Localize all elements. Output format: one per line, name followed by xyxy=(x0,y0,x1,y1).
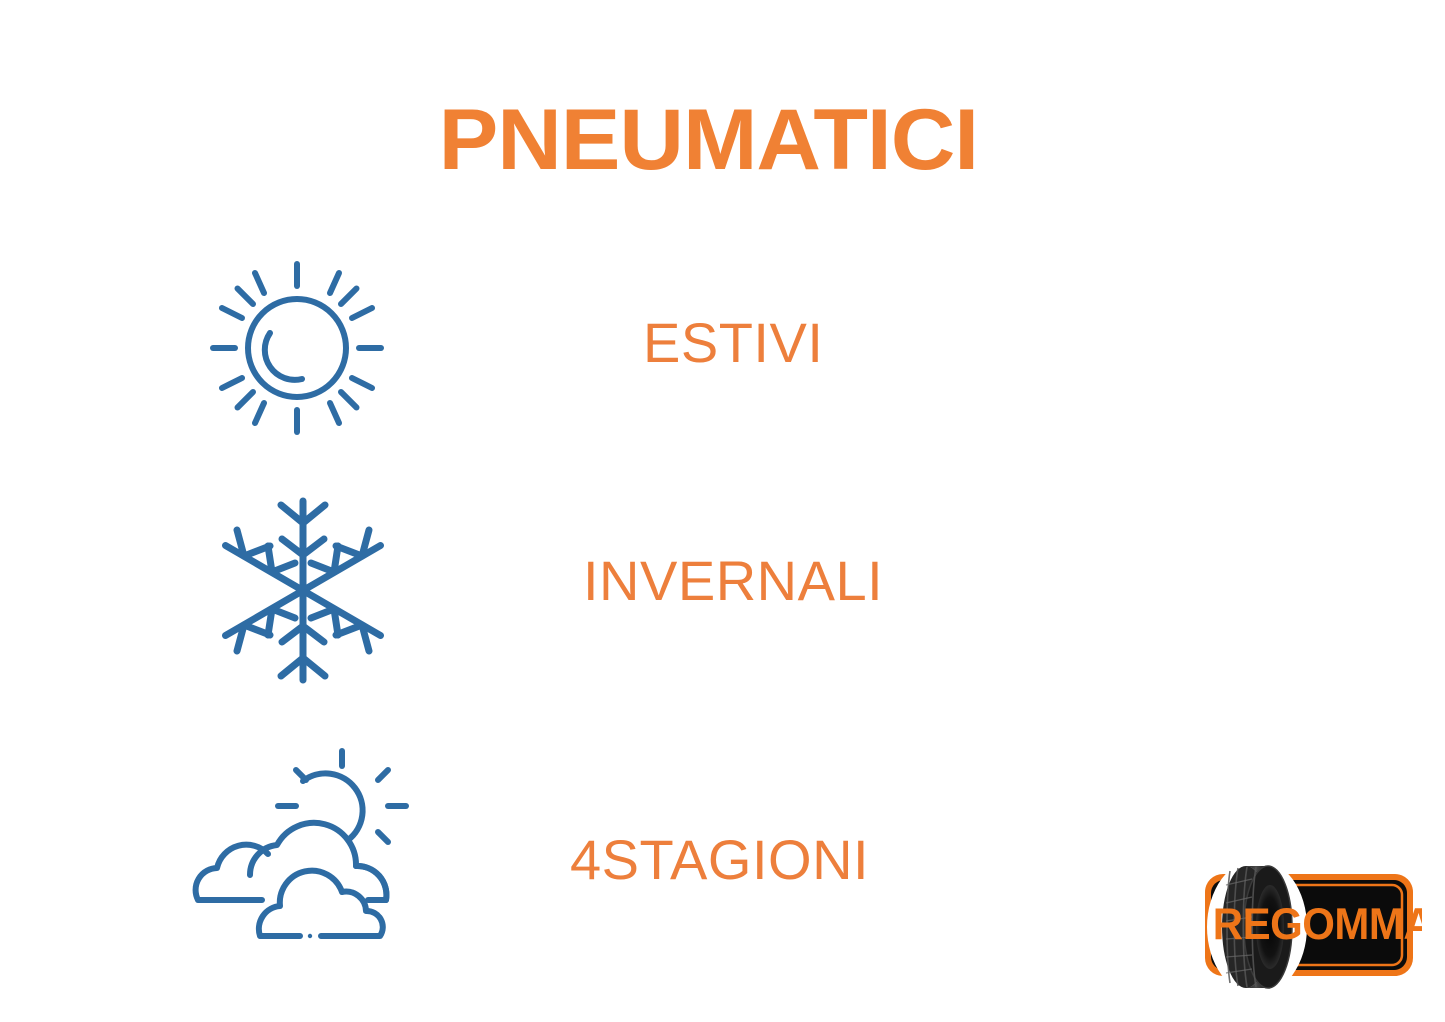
sun-ray xyxy=(352,378,372,388)
sun-ray xyxy=(378,832,388,842)
sun-ray xyxy=(378,770,388,780)
tyre-category-row-invernali: INVERNALI xyxy=(0,493,1445,693)
category-label-estivi: ESTIVI xyxy=(643,313,823,373)
snowflake-icon xyxy=(218,493,388,688)
cloud-main xyxy=(250,823,386,900)
snowflake-barb xyxy=(336,625,369,651)
tyre-category-row-estivi: ESTIVI xyxy=(0,248,1445,448)
sun-ray xyxy=(222,308,242,318)
sun-ray xyxy=(296,770,306,780)
sun-icon xyxy=(210,248,385,438)
category-label-invernali: INVERNALI xyxy=(583,551,883,611)
sun-ray xyxy=(255,403,264,423)
sun-ray xyxy=(238,289,254,305)
regomma-logo[interactable]: REGOMMA xyxy=(1196,857,1422,997)
snowflake-arms xyxy=(226,501,381,680)
sun-ray xyxy=(341,392,357,408)
sun-inner-arc xyxy=(265,333,302,380)
poster-canvas: PNEUMATICI ESTIVI xyxy=(0,0,1445,1022)
sun-ray xyxy=(330,273,339,293)
snowflake-barb xyxy=(336,530,369,556)
logo-brand-text: REGOMMA xyxy=(1213,900,1422,949)
snowflake-barb xyxy=(237,530,270,556)
category-label-4stagioni: 4STAGIONI xyxy=(570,830,869,890)
cloud-front-dot xyxy=(308,934,312,938)
sun-ray xyxy=(330,403,339,423)
cloud-front xyxy=(259,871,383,936)
sun-ray xyxy=(255,273,264,293)
sun-ray xyxy=(341,289,357,305)
regomma-logo-graphic: REGOMMA xyxy=(1196,857,1422,997)
sun-ray xyxy=(352,308,372,318)
page-title: PNEUMATICI xyxy=(0,92,1445,188)
sun-behind-clouds-icon xyxy=(190,748,415,943)
snowflake-barb xyxy=(237,625,270,651)
sun-ray xyxy=(238,392,254,408)
page-title-text: PNEUMATICI xyxy=(439,92,978,188)
sun-ray xyxy=(222,378,242,388)
